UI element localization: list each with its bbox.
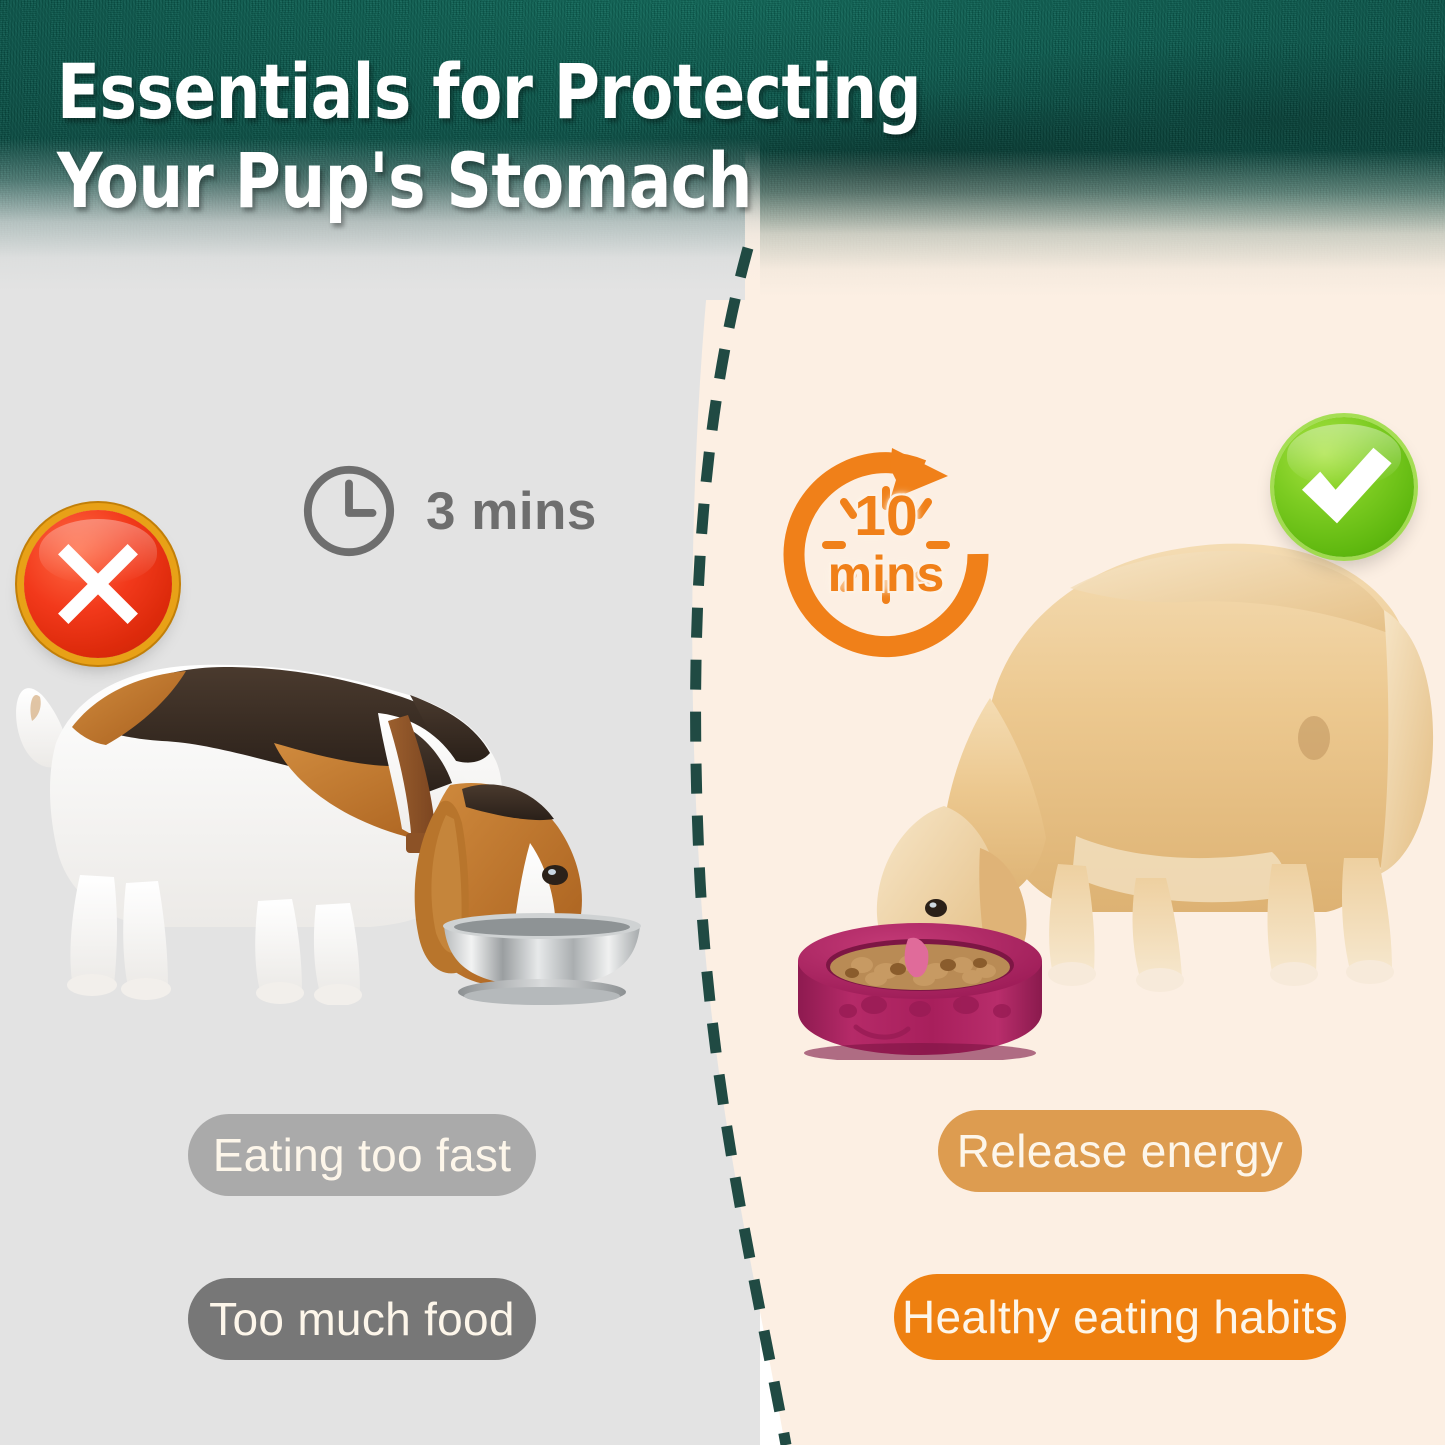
page-title: Essentials for Protecting Your Pup's Sto… [57,48,1069,226]
label-too-much-food: Too much food [188,1278,536,1360]
cross-badge [24,510,172,658]
steel-food-bowl [430,910,655,1010]
check-badge [1274,417,1414,557]
right-timer-value: 10 [772,488,1000,545]
label-eating-too-fast: Eating too fast [188,1114,536,1196]
clock-icon [300,462,398,560]
right-timer-text: 10 mins [772,488,1000,599]
close-icon [24,510,172,658]
left-timer-group: 3 mins [300,462,597,560]
label-release-energy: Release energy [938,1110,1302,1192]
pink-slow-feeder-bowl [790,915,1050,1060]
label-healthy-eating-habits: Healthy eating habits [894,1274,1346,1360]
infographic-poster: Essentials for Protecting Your Pup's Sto… [0,0,1445,1445]
check-icon [1274,417,1414,557]
right-timer-unit: mins [772,549,1000,599]
right-timer-group: 10 mins [772,436,1000,662]
left-timer-label: 3 mins [426,481,597,542]
